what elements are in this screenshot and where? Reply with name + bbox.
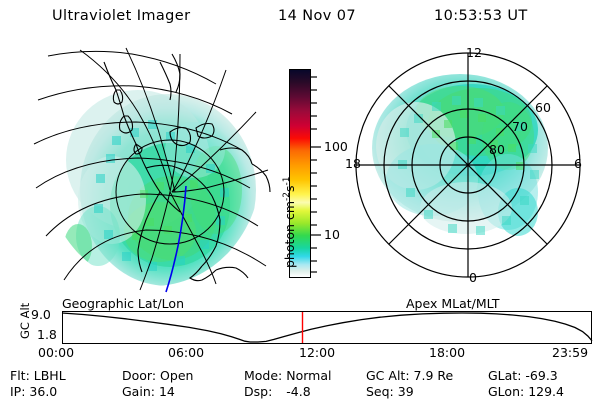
status-flt-value: LBHL xyxy=(34,368,66,383)
status-ip-label: IP: xyxy=(10,384,25,399)
status-gain: Gain: 14 xyxy=(122,384,175,399)
status-mode-label: Mode: xyxy=(244,368,282,383)
status-gain-label: Gain: xyxy=(122,384,155,399)
status-door-label: Door: xyxy=(122,368,156,383)
status-ip-value: 36.0 xyxy=(29,384,57,399)
status-flt: Flt: LBHL xyxy=(10,368,66,383)
status-dsp-label: Dsp: xyxy=(244,384,272,399)
status-gcalt-label: GC Alt: xyxy=(366,368,410,383)
geographic-panel-caption: Geographic Lat/Lon xyxy=(62,296,184,311)
status-gcalt: GC Alt: 7.9 Re xyxy=(366,368,453,383)
uvi-display-window: Ultraviolet Imager 14 Nov 07 10:53:53 UT xyxy=(0,0,600,400)
status-mode-value: Normal xyxy=(286,368,331,383)
colorbar-axis-label-exp1: -2 xyxy=(282,192,292,201)
colorbar-axis-label-text2: s xyxy=(282,186,297,193)
status-glat: GLat: -69.3 xyxy=(488,368,558,383)
geographic-aurora-panel xyxy=(20,40,285,295)
mlt-panel-caption: Apex MLat/MLT xyxy=(406,296,500,311)
status-gain-value: 14 xyxy=(159,384,175,399)
mlt-dial-grid xyxy=(356,53,580,277)
status-glon-label: GLon: xyxy=(488,384,524,399)
status-dsp-value: -4.8 xyxy=(286,384,310,399)
status-mode: Mode: Normal xyxy=(244,368,332,383)
mlt-label-6: 6 xyxy=(574,156,582,171)
status-glat-value: -69.3 xyxy=(525,368,557,383)
orbit-ytick-top: 9.0 xyxy=(31,307,51,322)
mlt-label-12: 12 xyxy=(466,45,482,60)
orbit-xtick-2: 12:00 xyxy=(299,345,335,360)
status-glon: GLon: 129.4 xyxy=(488,384,564,399)
colorbar-tick-10: 10 xyxy=(324,227,340,242)
status-seq-label: Seq: xyxy=(366,384,394,399)
header-time: 10:53:53 UT xyxy=(434,8,528,24)
status-glon-value: 129.4 xyxy=(528,384,564,399)
orbit-xtick-3: 18:00 xyxy=(429,345,465,360)
mlat-label-60: 60 xyxy=(535,100,551,115)
orbit-xtick-1: 06:00 xyxy=(168,345,204,360)
status-door-value: Open xyxy=(160,368,193,383)
header-date: 14 Nov 07 xyxy=(278,8,356,24)
status-flt-label: Flt: xyxy=(10,368,30,383)
status-seq-value: 39 xyxy=(398,384,414,399)
orbit-ytick-bottom: 1.8 xyxy=(37,327,57,342)
status-gcalt-value: 7.9 Re xyxy=(414,368,454,383)
geo-aurora-emission xyxy=(64,90,256,286)
orbit-plot-frame xyxy=(63,312,592,344)
status-glat-label: GLat: xyxy=(488,368,521,383)
status-ip: IP: 36.0 xyxy=(10,384,57,399)
colorbar-ticks xyxy=(311,62,323,286)
header-instrument-title: Ultraviolet Imager xyxy=(52,8,190,24)
orbit-y-axis-label-text: GC Alt xyxy=(18,303,32,339)
mlt-label-0: 0 xyxy=(469,270,477,285)
colorbar-axis-label-exp2: -1 xyxy=(282,177,292,186)
orbit-xtick-0: 00:00 xyxy=(38,345,74,360)
mlat-label-80: 80 xyxy=(489,142,505,157)
orbit-altitude-plot xyxy=(62,311,592,344)
status-dsp: Dsp: -4.8 xyxy=(244,384,311,399)
status-door: Door: Open xyxy=(122,368,193,383)
mlt-label-18: 18 xyxy=(345,156,361,171)
status-seq: Seq: 39 xyxy=(366,384,414,399)
colorbar-axis-label-text: photon cm xyxy=(282,201,297,268)
mlat-label-70: 70 xyxy=(512,119,528,134)
orbit-xtick-4: 23:59 xyxy=(552,345,588,360)
mlt-dial-panel xyxy=(340,40,595,295)
